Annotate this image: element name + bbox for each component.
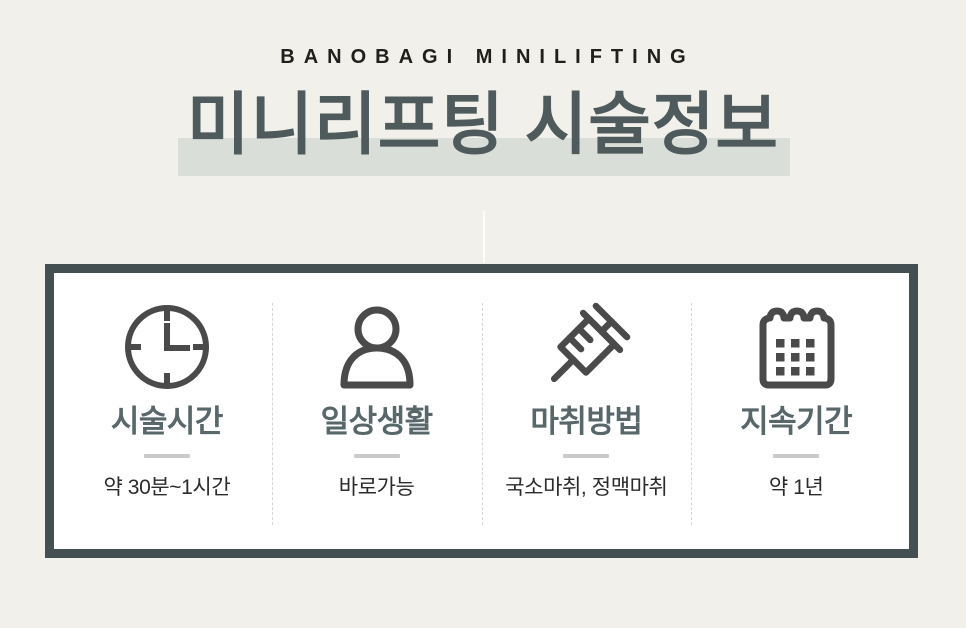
info-column-value: 약 1년 [769,471,824,501]
info-column-title: 지속기간 [740,405,852,439]
info-column-duration: 지속기간 약 1년 [691,295,901,531]
info-column-anesthesia: 마취방법 국소마취, 정맥마취 [482,295,692,531]
info-column-treatment-time: 시술시간 약 30분~1시간 [62,295,272,531]
promo-infographic: BANOBAGI MINILIFTING 미니리프팅 시술정보 [0,0,966,628]
info-columns: 시술시간 약 30분~1시간 일상생활 바로가능 [54,273,909,549]
info-column-value: 약 30분~1시간 [103,471,230,501]
title-underline [354,454,400,458]
title-underline [773,454,819,458]
info-box: 시술시간 약 30분~1시간 일상생활 바로가능 [45,264,918,558]
title-underline [144,454,190,458]
info-column-title: 시술시간 [111,405,223,439]
info-column-title: 마취방법 [530,405,642,439]
info-column-value: 국소마취, 정맥마취 [505,471,667,501]
title-underline [563,454,609,458]
info-column-title: 일상생활 [321,405,433,439]
calendar-icon [746,295,846,399]
page-title-block: 미니리프팅 시술정보 [0,80,966,180]
connector-line [483,211,485,263]
page-title: 미니리프팅 시술정보 [187,80,779,170]
info-column-daily-life: 일상생활 바로가능 [272,295,482,531]
clock-icon [117,295,217,399]
person-icon [327,295,427,399]
brand-eyebrow: BANOBAGI MINILIFTING [0,46,966,69]
syringe-icon [534,295,638,399]
info-column-value: 바로가능 [339,471,415,501]
